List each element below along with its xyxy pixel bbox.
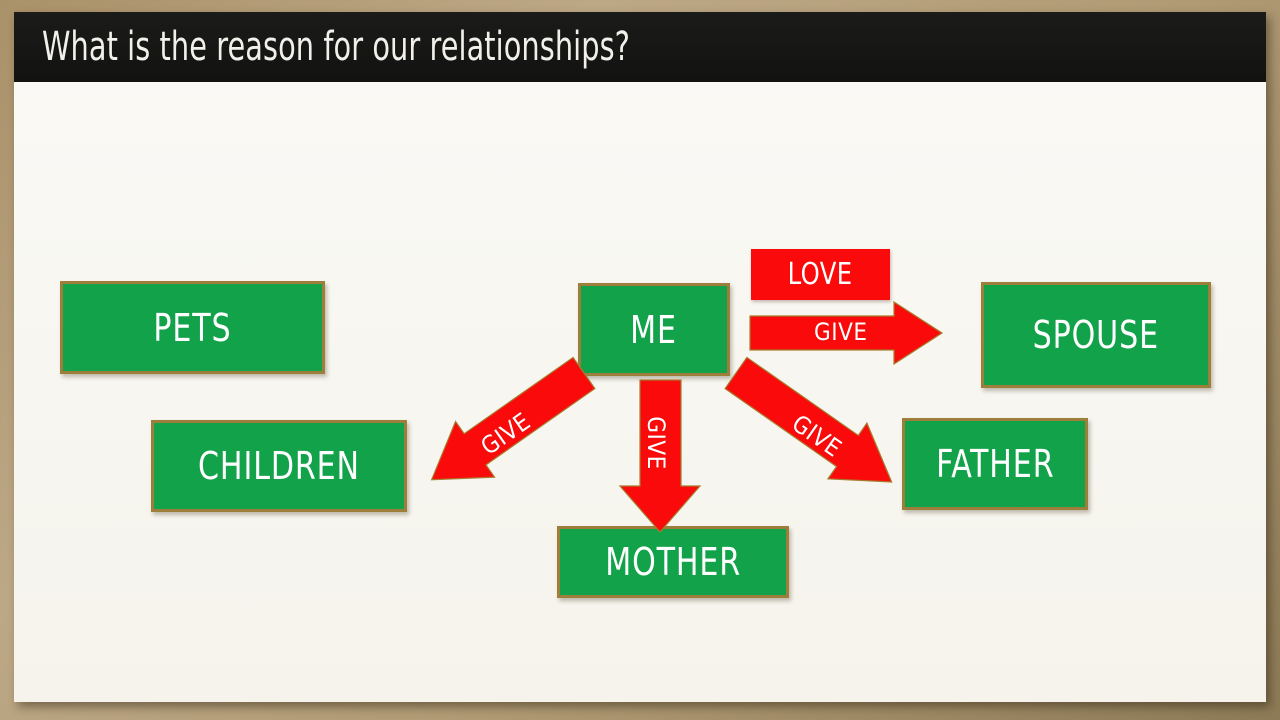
node-pets-label: PETS [153,306,231,350]
node-children[interactable]: CHILDREN [151,420,407,512]
node-father-label: FATHER [936,442,1054,486]
node-father[interactable]: FATHER [902,418,1088,510]
callout-love[interactable]: LOVE [751,249,890,300]
callout-love-label: LOVE [788,257,853,292]
relationship-diagram: GIVE LOVE GIVE GIVE [14,12,1266,702]
node-spouse-label: SPOUSE [1033,313,1159,357]
node-me[interactable]: ME [578,283,730,376]
node-children-label: CHILDREN [198,444,360,488]
arrow-me-to-father[interactable] [732,370,916,500]
arrow-me-to-children[interactable] [404,370,584,500]
arrow-me-to-mother[interactable] [620,380,700,532]
slide-frame: What is the reason for our relationships… [0,0,1280,720]
slide-canvas: What is the reason for our relationships… [14,12,1266,702]
node-mother-label: MOTHER [605,540,741,584]
node-spouse[interactable]: SPOUSE [981,282,1211,388]
node-pets[interactable]: PETS [60,281,325,374]
arrow-me-to-spouse[interactable] [750,302,942,364]
node-me-label: ME [631,308,678,352]
node-mother[interactable]: MOTHER [557,526,789,598]
